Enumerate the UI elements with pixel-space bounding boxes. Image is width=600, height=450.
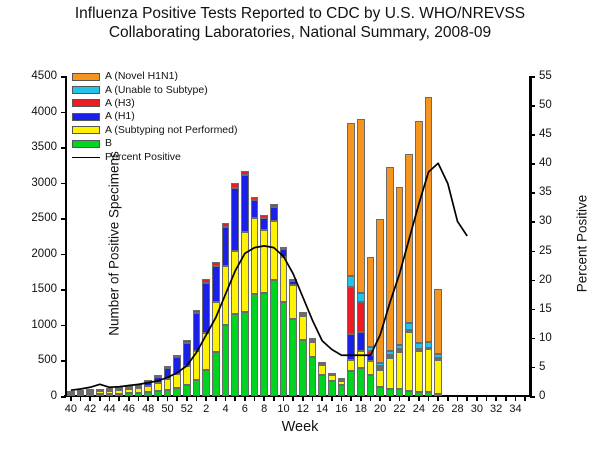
right-axis-tick xyxy=(530,105,535,107)
x-axis-tick-label: 28 xyxy=(451,403,463,415)
x-axis-tick-label: 50 xyxy=(161,403,173,415)
x-axis-tick-label: 22 xyxy=(393,403,405,415)
chart-legend: A (Novel H1N1)A (Unable to Subtype)A (H3… xyxy=(72,70,292,164)
legend-item-label: A (Novel H1N1) xyxy=(105,71,178,82)
right-axis-tick xyxy=(530,338,535,340)
right-axis-tick xyxy=(530,134,535,136)
right-axis-tick-label: 25 xyxy=(539,245,552,257)
legend-item-label: A (Unable to Subtype) xyxy=(105,85,208,96)
x-axis-tick xyxy=(312,396,314,401)
x-axis-tick xyxy=(331,396,333,401)
x-axis-tick-label: 4 xyxy=(222,403,228,415)
legend-item[interactable]: B xyxy=(72,137,292,150)
x-axis-tick xyxy=(447,396,449,401)
legend-item-label: Percent Positive xyxy=(105,152,181,163)
x-axis-tick xyxy=(186,396,188,401)
legend-line-swatch xyxy=(72,157,100,158)
x-axis-tick xyxy=(379,396,381,401)
right-axis-tick-label: 35 xyxy=(539,186,552,198)
x-axis-tick xyxy=(215,396,217,401)
right-axis-tick-label: 10 xyxy=(539,332,552,344)
right-axis-ticks: 0510152025303540455055 xyxy=(530,76,536,396)
x-axis-tick xyxy=(466,396,468,401)
right-axis-tick xyxy=(530,280,535,282)
left-axis-tick-label: 1000 xyxy=(31,319,57,331)
left-axis-tick-label: 3500 xyxy=(31,141,57,153)
left-axis-tick-label: 3000 xyxy=(31,177,57,189)
x-axis-tick xyxy=(399,396,401,401)
x-axis-tick xyxy=(176,396,178,401)
x-axis-tick xyxy=(408,396,410,401)
right-axis-tick xyxy=(530,192,535,194)
x-axis-tick xyxy=(80,396,82,401)
right-axis-tick xyxy=(530,251,535,253)
x-axis-tick xyxy=(225,396,227,401)
right-axis-tick-label: 50 xyxy=(539,99,552,111)
x-axis-tick xyxy=(205,396,207,401)
legend-color-swatch xyxy=(72,73,100,81)
x-axis-tick-label: 16 xyxy=(335,403,347,415)
left-axis-tick-label: 1500 xyxy=(31,283,57,295)
x-axis-tick-label: 24 xyxy=(413,403,425,415)
x-axis-tick-label: 40 xyxy=(65,403,77,415)
x-axis-tick xyxy=(350,396,352,401)
legend-item[interactable]: Percent Positive xyxy=(72,150,292,163)
x-axis-tick xyxy=(437,396,439,401)
x-axis-tick xyxy=(263,396,265,401)
right-axis-tick xyxy=(530,309,535,311)
chart-title-line1: Influenza Positive Tests Reported to CDC… xyxy=(0,4,600,23)
legend-item-label: B xyxy=(105,138,112,149)
legend-color-swatch xyxy=(72,113,100,121)
x-axis-tick xyxy=(128,396,130,401)
right-axis-tick-label: 30 xyxy=(539,215,552,227)
x-axis-tick xyxy=(505,396,507,401)
x-axis-tick-label: 18 xyxy=(355,403,367,415)
right-axis-tick-label: 55 xyxy=(539,70,552,82)
x-axis-tick xyxy=(244,396,246,401)
x-axis-tick xyxy=(370,396,372,401)
chart-root: Influenza Positive Tests Reported to CDC… xyxy=(0,0,600,450)
x-axis-tick xyxy=(138,396,140,401)
right-axis-tick xyxy=(530,221,535,223)
left-axis-tick-label: 2500 xyxy=(31,212,57,224)
x-axis-tick-label: 48 xyxy=(142,403,154,415)
x-axis-tick xyxy=(283,396,285,401)
legend-color-swatch xyxy=(72,99,100,107)
x-axis-tick-label: 10 xyxy=(277,403,289,415)
right-axis-tick-label: 40 xyxy=(539,157,552,169)
right-axis-label: Percent Positive xyxy=(575,124,590,364)
legend-item[interactable]: A (Novel H1N1) xyxy=(72,70,292,83)
x-axis-tick-label: 26 xyxy=(432,403,444,415)
x-axis-tick xyxy=(341,396,343,401)
x-axis-tick xyxy=(118,396,120,401)
x-axis-tick-label: 42 xyxy=(84,403,96,415)
x-axis-tick xyxy=(302,396,304,401)
left-axis-tick-label: 4500 xyxy=(31,70,57,82)
legend-color-swatch xyxy=(72,140,100,148)
x-axis-tick xyxy=(147,396,149,401)
x-axis-tick xyxy=(167,396,169,401)
legend-item-label: A (H3) xyxy=(105,98,135,109)
x-axis-tick xyxy=(476,396,478,401)
chart-title: Influenza Positive Tests Reported to CDC… xyxy=(0,4,600,42)
legend-item[interactable]: A (Unable to Subtype) xyxy=(72,83,292,96)
legend-color-swatch xyxy=(72,126,100,134)
left-axis-tick-label: 2000 xyxy=(31,248,57,260)
x-axis-tick xyxy=(515,396,517,401)
right-axis-tick-label: 15 xyxy=(539,303,552,315)
x-axis-tick xyxy=(157,396,159,401)
x-axis-tick xyxy=(89,396,91,401)
x-axis-tick-label: 2 xyxy=(203,403,209,415)
right-axis-tick xyxy=(530,367,535,369)
x-axis-tick xyxy=(254,396,256,401)
x-axis-tick-label: 8 xyxy=(261,403,267,415)
legend-color-swatch xyxy=(72,86,100,94)
x-axis-tick-label: 14 xyxy=(316,403,328,415)
x-axis-tick-label: 12 xyxy=(297,403,309,415)
right-axis-tick-label: 5 xyxy=(539,361,545,373)
x-axis-tick xyxy=(389,396,391,401)
x-axis-tick xyxy=(109,396,111,401)
right-axis-tick xyxy=(530,163,535,165)
x-axis-tick xyxy=(292,396,294,401)
percent-positive-path xyxy=(71,163,467,390)
x-axis-tick xyxy=(321,396,323,401)
right-axis-tick-label: 45 xyxy=(539,128,552,140)
x-axis-tick xyxy=(234,396,236,401)
x-axis-tick xyxy=(273,396,275,401)
x-axis-tick xyxy=(457,396,459,401)
x-axis-tick xyxy=(196,396,198,401)
legend-item[interactable]: A (H3) xyxy=(72,97,292,110)
left-axis-tick-label: 500 xyxy=(38,354,57,366)
x-axis-tick xyxy=(495,396,497,401)
x-axis-tick-label: 52 xyxy=(181,403,193,415)
right-axis-tick-label: 20 xyxy=(539,274,552,286)
legend-item[interactable]: A (Subtyping not Performed) xyxy=(72,124,292,137)
chart-title-line2: Collaborating Laboratories, National Sum… xyxy=(0,23,600,42)
x-axis-tick-label: 30 xyxy=(471,403,483,415)
x-axis-tick xyxy=(70,396,72,401)
right-axis-tick xyxy=(530,76,535,78)
x-axis-tick xyxy=(486,396,488,401)
x-axis-tick xyxy=(418,396,420,401)
x-axis-label: Week xyxy=(0,419,600,435)
x-axis-tick-label: 46 xyxy=(123,403,135,415)
legend-item[interactable]: A (H1) xyxy=(72,110,292,123)
x-axis-tick xyxy=(428,396,430,401)
x-axis-tick-label: 32 xyxy=(490,403,502,415)
legend-item-label: A (Subtyping not Performed) xyxy=(105,125,238,136)
x-axis-tick xyxy=(99,396,101,401)
x-axis-tick-label: 20 xyxy=(374,403,386,415)
x-axis-tick-label: 6 xyxy=(242,403,248,415)
x-axis-tick-label: 34 xyxy=(509,403,521,415)
legend-item-label: A (H1) xyxy=(105,111,135,122)
x-axis-tick xyxy=(524,396,526,401)
x-axis-tick-label: 44 xyxy=(103,403,115,415)
left-axis-tick-label: 4000 xyxy=(31,106,57,118)
x-axis-tick xyxy=(360,396,362,401)
